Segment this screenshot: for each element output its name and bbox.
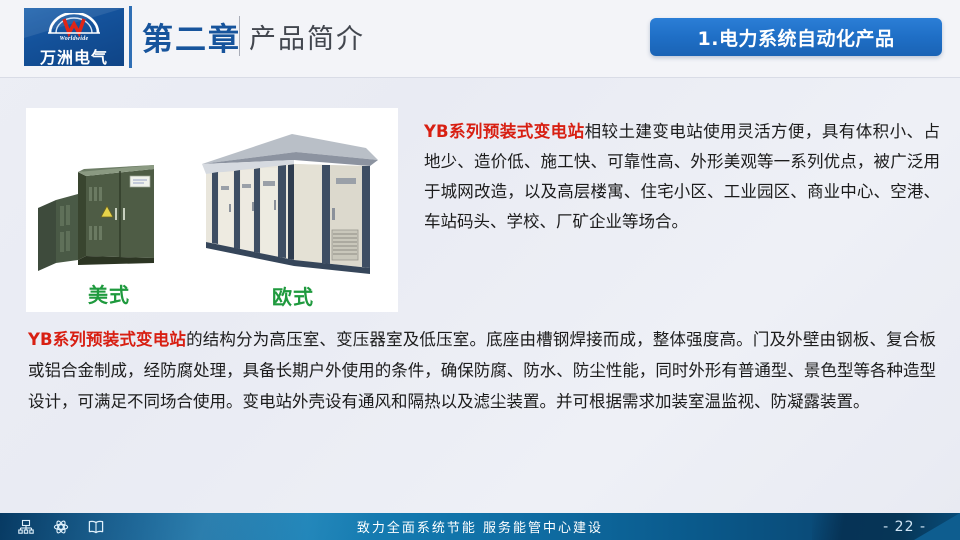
header-divider: [129, 6, 132, 68]
photo-caption-european: 欧式: [272, 281, 314, 310]
product-photo: 美式 欧式: [26, 108, 398, 312]
section-title: 产品简介: [249, 17, 365, 56]
chapter-title: 第二章: [142, 14, 241, 59]
slide-canvas: Worldwide 万洲电气 第二章 产品简介 1.电力系统自动化产品: [0, 0, 960, 540]
page-number: - 22 -: [883, 513, 926, 540]
structure-paragraph-highlight: YB系列预装式变电站: [28, 330, 186, 349]
title-separator: [239, 16, 240, 56]
slide-header: Worldwide 万洲电气 第二章 产品简介 1.电力系统自动化产品: [0, 0, 960, 78]
substation-illustration: [26, 108, 398, 312]
slide-footer: 致力全面系统节能 服务能管中心建设 - 22 -: [0, 513, 960, 540]
photo-caption-american: 美式: [88, 279, 130, 308]
logo-company-name: 万洲电气: [24, 44, 124, 66]
logo-tagline: Worldwide: [24, 36, 124, 42]
worldwide-w-icon: [46, 13, 102, 37]
structure-paragraph: YB系列预装式变电站的结构分为高压室、变压器室及低压室。底座由槽钢焊接而成，整体…: [28, 324, 936, 417]
header-rule: [0, 77, 960, 78]
intro-paragraph-highlight: YB系列预装式变电站: [424, 122, 585, 141]
topic-badge[interactable]: 1.电力系统自动化产品: [650, 18, 942, 56]
intro-paragraph: YB系列预装式变电站相较土建变电站使用灵活方便，具有体积小、占地少、造价低、施工…: [424, 117, 940, 237]
topic-badge-label: 1.电力系统自动化产品: [698, 24, 895, 51]
company-logo: Worldwide 万洲电气: [24, 8, 124, 66]
